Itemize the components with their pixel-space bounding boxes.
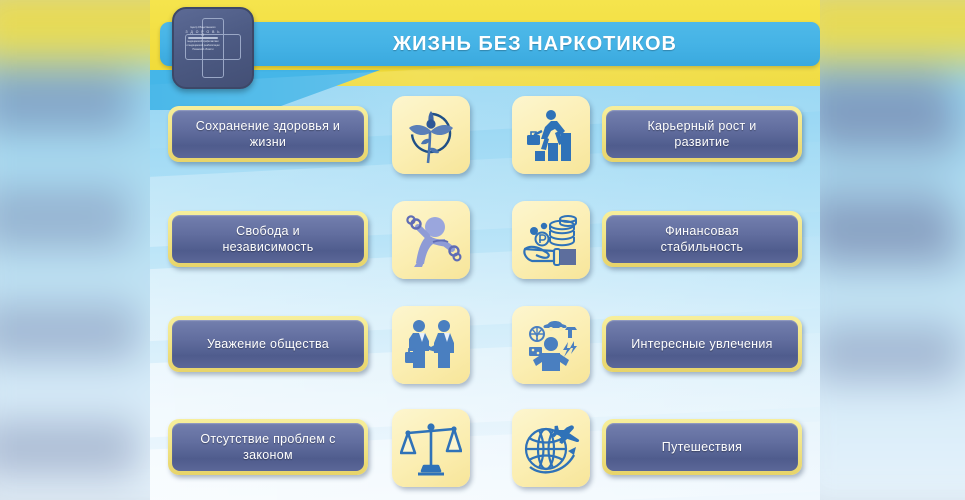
benefit-row: Отсутствие проблем с законом xyxy=(150,403,820,495)
blurred-left-backdrop xyxy=(0,0,152,500)
benefit-label-finance[interactable]: Финансовая стабильность xyxy=(602,211,802,267)
benefit-label-no-legal-problems[interactable]: Отсутствие проблем с законом xyxy=(168,419,368,475)
benefit-label-health[interactable]: Сохранение здоровья и жизни xyxy=(168,106,368,162)
benefit-label-career[interactable]: Карьерный рост и развитие xyxy=(602,106,802,162)
benefit-label-text: Путешествия xyxy=(656,439,748,455)
person-hobbies-icon xyxy=(512,306,590,384)
infographic-board: ЖИЗНЬ БЕЗ НАРКОТИКОВ Центр Общественного… xyxy=(150,0,820,500)
logo-text-lines: Центр Общественного З Д О Р О В Ь Я меди… xyxy=(183,27,223,53)
benefit-row: Свобода и независимость xyxy=(150,195,820,287)
hand-coins-ruble-icon xyxy=(512,201,590,279)
scales-of-justice-icon xyxy=(392,409,470,487)
benefit-label-text: Отсутствие проблем с законом xyxy=(194,431,341,463)
logo-line-4: и медицинской реабилитации xyxy=(183,44,223,47)
benefit-label-respect[interactable]: Уважение общества xyxy=(168,316,368,372)
benefit-label-travel[interactable]: Путешествия xyxy=(602,419,802,475)
logo-line-1: Центр Общественного xyxy=(183,26,223,29)
benefit-label-text: Свобода и независимость xyxy=(216,223,319,255)
title-bar: ЖИЗНЬ БЕЗ НАРКОТИКОВ xyxy=(160,22,820,66)
person-breaking-chains-icon xyxy=(392,201,470,279)
logo-line-5: Рязанской области xyxy=(183,48,223,51)
benefit-label-text: Уважение общества xyxy=(201,336,335,352)
handshake-businessmen-icon xyxy=(392,306,470,384)
logo-line-3: медицинской профилактики xyxy=(183,40,223,43)
benefit-label-freedom[interactable]: Свобода и независимость xyxy=(168,211,368,267)
blurred-right-backdrop xyxy=(820,0,965,500)
logo-badge: Центр Общественного З Д О Р О В Ь Я меди… xyxy=(172,7,254,89)
benefit-label-text: Сохранение здоровья и жизни xyxy=(190,118,346,150)
globe-airplane-icon xyxy=(512,409,590,487)
businessman-climbing-bars-icon xyxy=(512,96,590,174)
benefit-label-hobbies[interactable]: Интересные увлечения xyxy=(602,316,802,372)
page-title: ЖИЗНЬ БЕЗ НАРКОТИКОВ xyxy=(303,33,677,56)
plant-person-health-icon xyxy=(392,96,470,174)
benefit-label-text: Интересные увлечения xyxy=(625,336,778,352)
benefit-row: Сохранение здоровья и жизни xyxy=(150,90,820,182)
benefit-row: Уважение общества xyxy=(150,300,820,392)
benefit-label-text: Финансовая стабильность xyxy=(655,223,750,255)
poster-stage: ЖИЗНЬ БЕЗ НАРКОТИКОВ Центр Общественного… xyxy=(0,0,965,500)
benefit-label-text: Карьерный рост и развитие xyxy=(641,118,762,150)
